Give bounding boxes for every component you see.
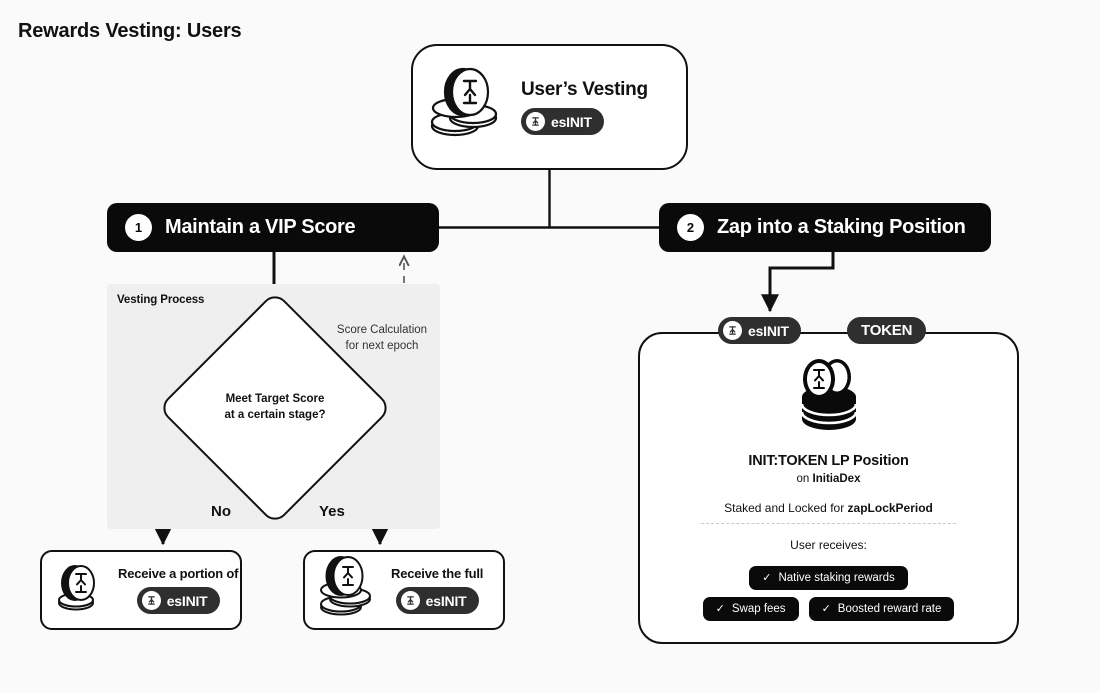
esinit-badge: esINIT [396,587,479,614]
outcome-full-esinit: Receive the full esINIT [303,550,505,630]
check-icon: ✓ [822,604,831,615]
diamond-line-1: Meet Target Score [226,392,325,408]
benefit-label: Boosted reward rate [838,603,942,615]
outcome-yes-text-bold: full [464,566,483,581]
check-icon: ✓ [762,573,771,584]
page-title: Rewards Vesting: Users [18,20,241,43]
step-1-label: Maintain a VIP Score [165,216,355,239]
esinit-badge-label: esINIT [167,593,208,609]
lock-period-line: Staked and Locked for zapLockPeriod [638,501,1019,515]
benefit-label: Swap fees [732,603,786,615]
outcome-yes-text: Receive the full [391,566,483,581]
lp-position-title: INIT:TOKEN LP Position [638,453,1019,469]
init-coin-icon [401,591,420,610]
decision-diamond: Meet Target Score at a certain stage? [192,325,358,491]
outcome-partial-esinit: Receive a portion of esINIT [40,550,242,630]
vesting-card-title: User’s Vesting [521,79,648,101]
users-vesting-card: User’s Vesting esINIT [411,44,688,170]
init-coin-icon [526,112,545,131]
step-zap-into-staking-position[interactable]: 2 Zap into a Staking Position [659,203,991,252]
benefit-chip-boosted-reward-rate: ✓ Boosted reward rate [809,597,955,621]
staking-input-esinit-label: esINIT [748,323,789,339]
lp-coin-stack-dark-icon [797,357,861,441]
esinit-badge-label: esINIT [551,114,592,130]
branch-label-yes: Yes [314,503,350,520]
staking-input-esinit-badge: esINIT [718,317,801,344]
user-receives-label: User receives: [638,538,1019,552]
lock-line-bold: zapLockPeriod [848,501,933,515]
staking-input-token-badge: TOKEN [847,317,926,344]
benefits-row-1: ✓ Native staking rewards [638,566,1019,590]
coin-stack-small-icon [54,560,110,621]
lock-line-plain: Staked and Locked for [724,501,847,515]
coin-stack-light-icon [429,64,511,151]
outcome-no-text: Receive a portion of [118,566,238,581]
init-coin-icon [142,591,161,610]
benefit-label: Native staking rewards [778,572,894,584]
benefit-chip-swap-fees: ✓ Swap fees [703,597,799,621]
diamond-text: Meet Target Score at a certain stage? [192,325,358,491]
lp-sub-plain: on [797,473,813,485]
check-icon: ✓ [716,604,725,615]
step-1-number: 1 [125,214,152,241]
step-2-number: 2 [677,214,704,241]
step-maintain-vip-score[interactable]: 1 Maintain a VIP Score [107,203,439,252]
lp-sub-bold: InitiaDex [813,473,861,485]
esinit-badge: esINIT [137,587,220,614]
benefit-chip-native-staking-rewards: ✓ Native staking rewards [749,566,908,590]
diagram-canvas: Rewards Vesting: Users User’s Ve [0,0,1100,693]
lp-position-subtitle: on InitiaDex [638,473,1019,485]
diamond-line-2: at a certain stage? [225,408,326,424]
init-coin-icon [723,321,742,340]
benefits-row-2: ✓ Swap fees ✓ Boosted reward rate [638,597,1019,621]
outcome-yes-text-plain: Receive the [391,566,464,581]
esinit-badge-label: esINIT [426,593,467,609]
branch-label-no: No [206,503,236,520]
dashed-divider [701,523,956,524]
staking-input-token-label: TOKEN [861,322,912,339]
coin-stack-large-icon [317,555,383,626]
esinit-badge: esINIT [521,108,604,135]
vesting-process-title: Vesting Process [117,294,204,306]
step-2-label: Zap into a Staking Position [717,216,966,239]
